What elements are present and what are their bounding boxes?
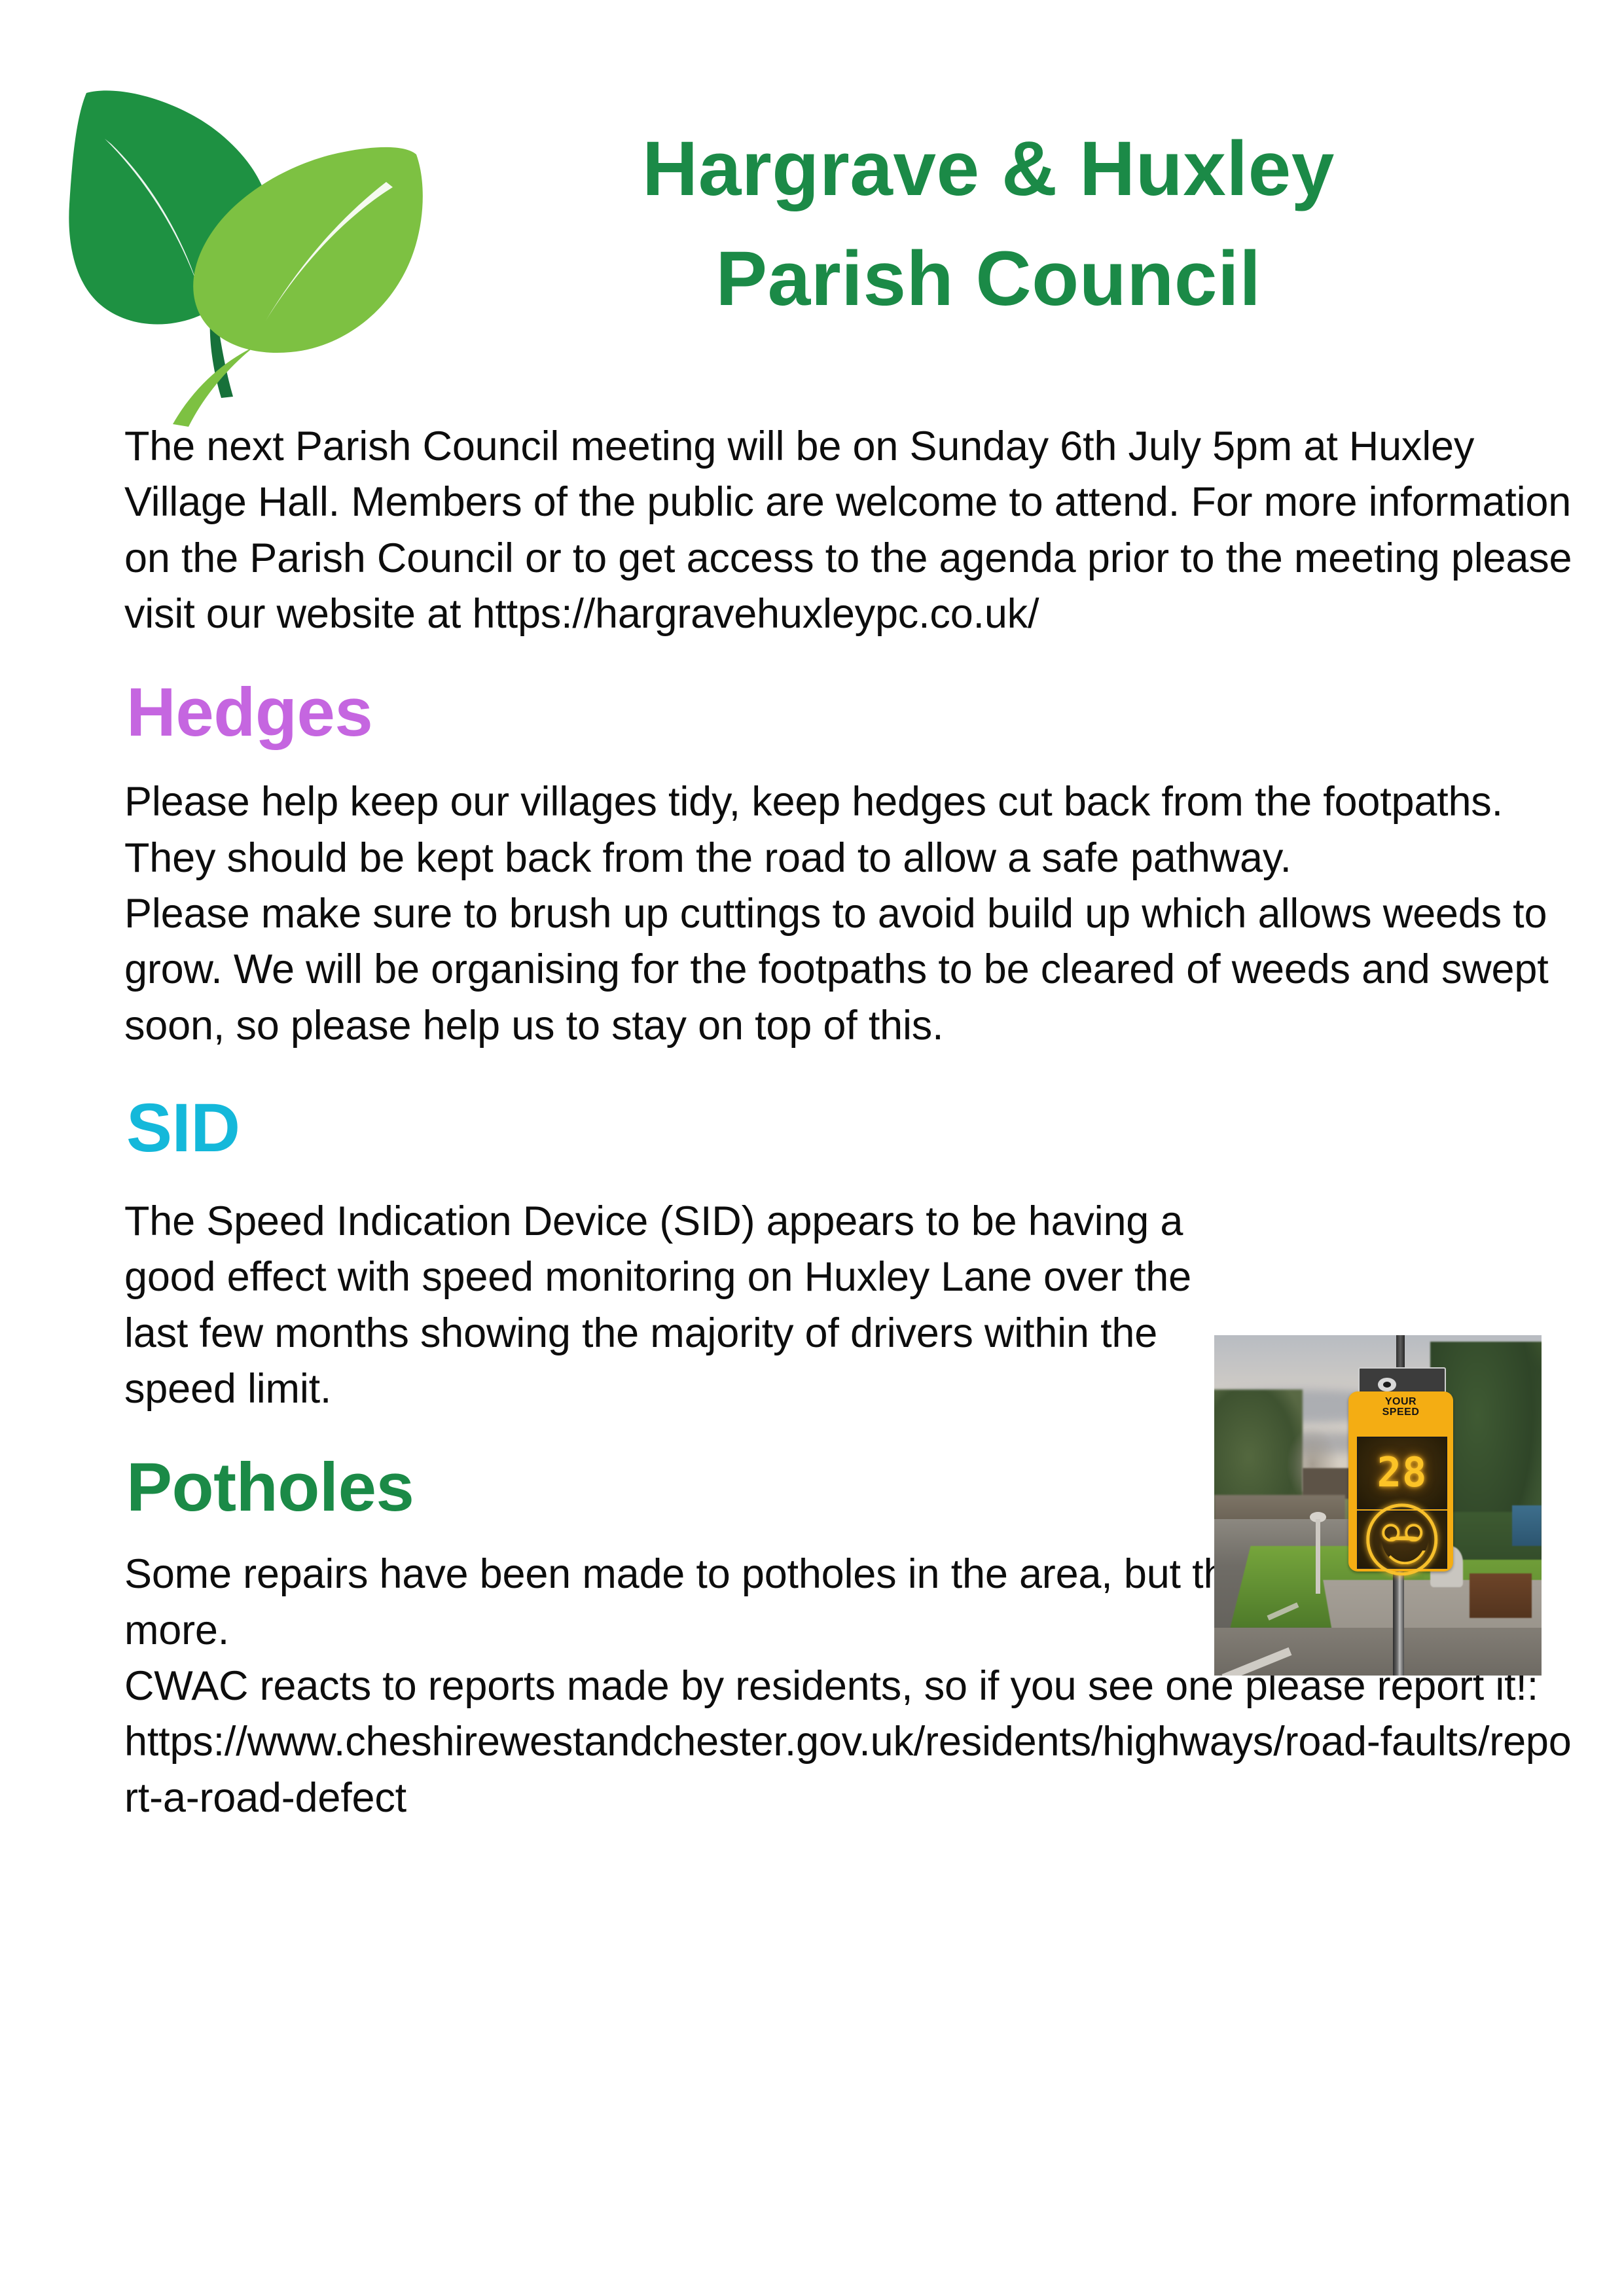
photo-bench (1470, 1573, 1532, 1618)
hedges-paragraph-2: Please make sure to brush up cuttings to… (0, 886, 1578, 1054)
parish-leaves-logo (58, 77, 437, 431)
newsletter-header: Hargrave & Huxley Parish Council (0, 0, 1624, 419)
intro-paragraph: The next Parish Council meeting will be … (0, 419, 1578, 642)
title-line-2: Parish Council (458, 224, 1519, 334)
camera-icon (1378, 1378, 1396, 1391)
sid-speed-reading: 28 (1358, 1438, 1446, 1508)
sid-face-display-panel (1357, 1511, 1447, 1569)
potholes-report-url[interactable]: https://www.cheshirewestandchester.gov.u… (0, 1714, 1578, 1826)
sid-speed-display-panel: 28 (1357, 1437, 1447, 1509)
photo-noticeboard (1512, 1505, 1542, 1546)
section-heading-hedges: Hedges (0, 672, 1624, 753)
hedges-paragraph-1: Please help keep our villages tidy, keep… (0, 774, 1578, 886)
smiley-face-icon (1366, 1504, 1437, 1575)
sid-label-line-1: YOUR (1348, 1397, 1453, 1407)
sid-sign-label: YOUR SPEED (1348, 1397, 1453, 1418)
photo-sign-post (1316, 1519, 1320, 1594)
sid-speed-sign-photo: YOUR SPEED 28 (1214, 1335, 1542, 1676)
title-line-1: Hargrave & Huxley (458, 115, 1519, 224)
sid-label-line-2: SPEED (1348, 1407, 1453, 1418)
sid-sign-plate: YOUR SPEED 28 (1348, 1391, 1453, 1572)
photo-foreground-path (1214, 1628, 1542, 1676)
section-heading-sid: SID (0, 1088, 1624, 1169)
page-title: Hargrave & Huxley Parish Council (458, 115, 1519, 334)
sid-paragraph: The Speed Indication Device (SID) appear… (0, 1194, 1198, 1417)
smiley-mouth (1381, 1537, 1428, 1564)
